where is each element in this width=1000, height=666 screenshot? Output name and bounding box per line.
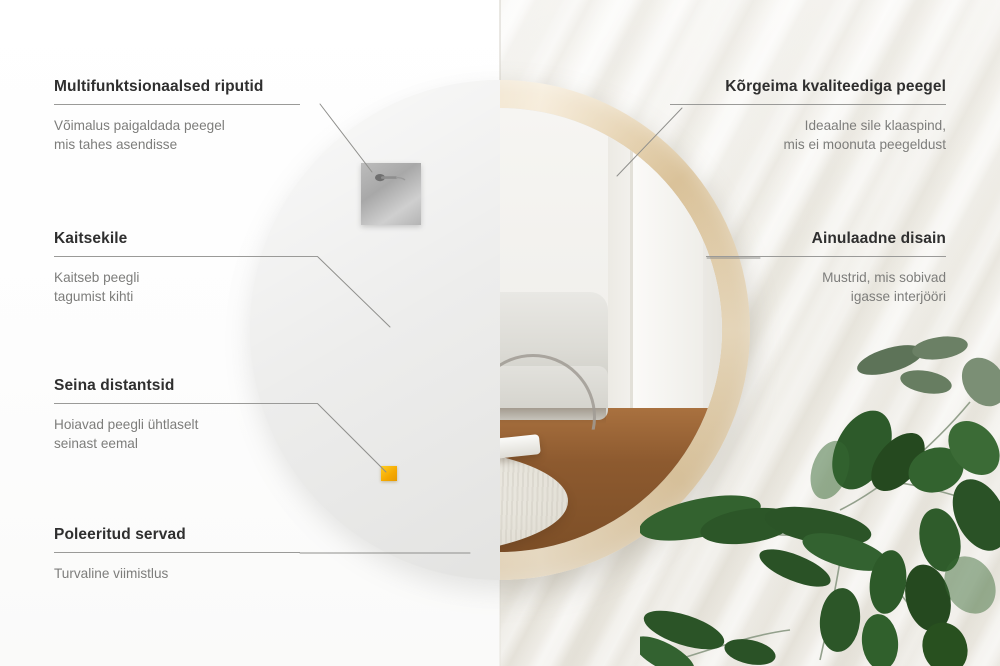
callout-title: Multifunktsionaalsed riputid <box>54 78 300 95</box>
callout-korgeima-kvaliteediga-peegel: Kõrgeima kvaliteediga peegel Ideaalne si… <box>670 78 946 155</box>
callout-description: Võimalus paigaldada peegel mis tahes ase… <box>54 116 300 155</box>
callout-title: Seina distantsid <box>54 377 318 394</box>
callout-rule <box>54 403 318 404</box>
leaf-cluster <box>640 333 1000 666</box>
callout-description: Hoiavad peegli ühtlaselt seinast eemal <box>54 415 318 454</box>
callout-title: Kaitsekile <box>54 230 318 247</box>
leader-line-wall-spacers <box>318 404 386 472</box>
callout-seina-distantsid: Seina distantsid Hoiavad peegli ühtlasel… <box>54 377 318 454</box>
foliage-branches <box>640 330 1000 666</box>
callout-rule <box>54 256 318 257</box>
callout-rule <box>54 104 300 105</box>
callout-title: Poleeritud servad <box>54 526 300 543</box>
callout-description: Kaitseb peegli tagumist kihti <box>54 268 318 307</box>
callout-ainulaadne-disain: Ainulaadne disain Mustrid, mis sobivad i… <box>706 230 946 307</box>
callout-multifunktsionaalsed-riputid: Multifunktsionaalsed riputid Võimalus pa… <box>54 78 300 155</box>
callout-kaitsekile: Kaitsekile Kaitseb peegli tagumist kihti <box>54 230 318 307</box>
callout-title: Kõrgeima kvaliteediga peegel <box>670 78 946 95</box>
leader-line-hangers <box>320 104 372 172</box>
callout-title: Ainulaadne disain <box>706 230 946 247</box>
callout-rule <box>54 552 300 553</box>
product-infographic: Multifunktsionaalsed riputid Võimalus pa… <box>0 0 1000 666</box>
callout-rule <box>706 256 946 257</box>
callout-description: Ideaalne sile klaaspind, mis ei moonuta … <box>670 116 946 155</box>
callout-poleeritud-servad: Poleeritud servad Turvaline viimistlus <box>54 526 300 583</box>
callout-rule <box>670 104 946 105</box>
callout-description: Turvaline viimistlus <box>54 564 300 583</box>
callout-description: Mustrid, mis sobivad igasse interjööri <box>706 268 946 307</box>
leader-line-protective-film <box>318 257 390 327</box>
